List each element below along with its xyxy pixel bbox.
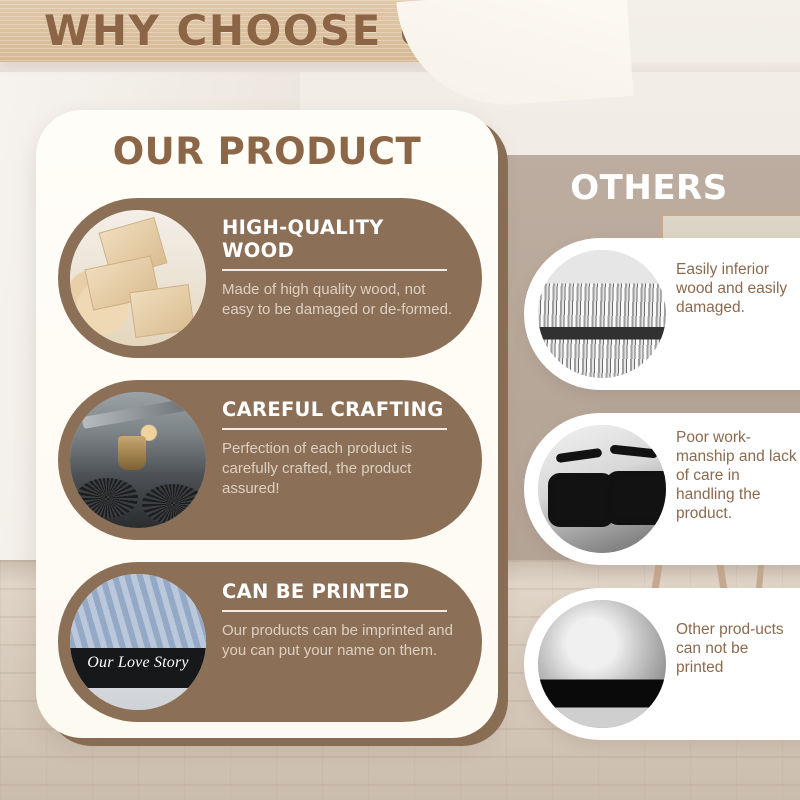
others-item-3-text: Other prod-ucts can not be printed (676, 620, 800, 677)
product-item-3-body: CAN BE PRINTED Our products can be impri… (222, 580, 460, 661)
others-item-3: Other prod-ucts can not be printed (524, 588, 800, 740)
product-card: OUR PRODUCT HIGH-QUALITY WOOD Made of hi… (36, 110, 498, 738)
banner-underline-strip (0, 62, 800, 72)
inferior-wood-photo (538, 250, 666, 378)
others-item-1: Easily inferior wood and easily damaged. (524, 238, 800, 390)
others-panel-title: OTHERS (498, 168, 800, 208)
face-glasses-photo (538, 425, 666, 553)
others-item-2: Poor work-manship and lack of care in ha… (524, 413, 800, 565)
product-panel-title: OUR PRODUCT (36, 130, 498, 173)
product-item-2-text: Perfection of each product is carefully … (222, 439, 460, 499)
blank-product-photo (538, 600, 666, 728)
heading-rule (222, 428, 447, 430)
plaque-caption: Our Love Story (70, 654, 206, 672)
wood-blocks-photo (70, 210, 206, 346)
others-item-1-text: Easily inferior wood and easily damaged. (676, 260, 800, 317)
header-banner: WHY CHOOSE US? (0, 0, 520, 62)
product-item-2-heading: CAREFUL CRAFTING (222, 398, 444, 428)
others-item-2-text: Poor work-manship and lack of care in ha… (676, 428, 800, 523)
product-item-1-heading: HIGH-QUALITY WOOD (222, 216, 460, 269)
product-item-3-text: Our products can be imprinted and you ca… (222, 621, 460, 661)
product-item-3-heading: CAN BE PRINTED (222, 580, 409, 610)
page-title: WHY CHOOSE US? (44, 8, 491, 54)
product-item-1: HIGH-QUALITY WOOD Made of high quality w… (58, 198, 482, 358)
product-item-3: Our Love Story CAN BE PRINTED Our produc… (58, 562, 482, 722)
product-item-1-text: Made of high quality wood, not easy to b… (222, 280, 460, 320)
product-item-2: CAREFUL CRAFTING Perfection of each prod… (58, 380, 482, 540)
cnc-machine-photo (70, 392, 206, 528)
heading-rule (222, 610, 447, 612)
infographic-root: WHY CHOOSE US? OUR PRODUCT HIGH-QUALITY … (0, 0, 800, 800)
product-item-1-body: HIGH-QUALITY WOOD Made of high quality w… (222, 216, 460, 320)
printed-plaque-photo: Our Love Story (70, 574, 206, 710)
heading-rule (222, 269, 447, 271)
product-item-2-body: CAREFUL CRAFTING Perfection of each prod… (222, 398, 460, 499)
